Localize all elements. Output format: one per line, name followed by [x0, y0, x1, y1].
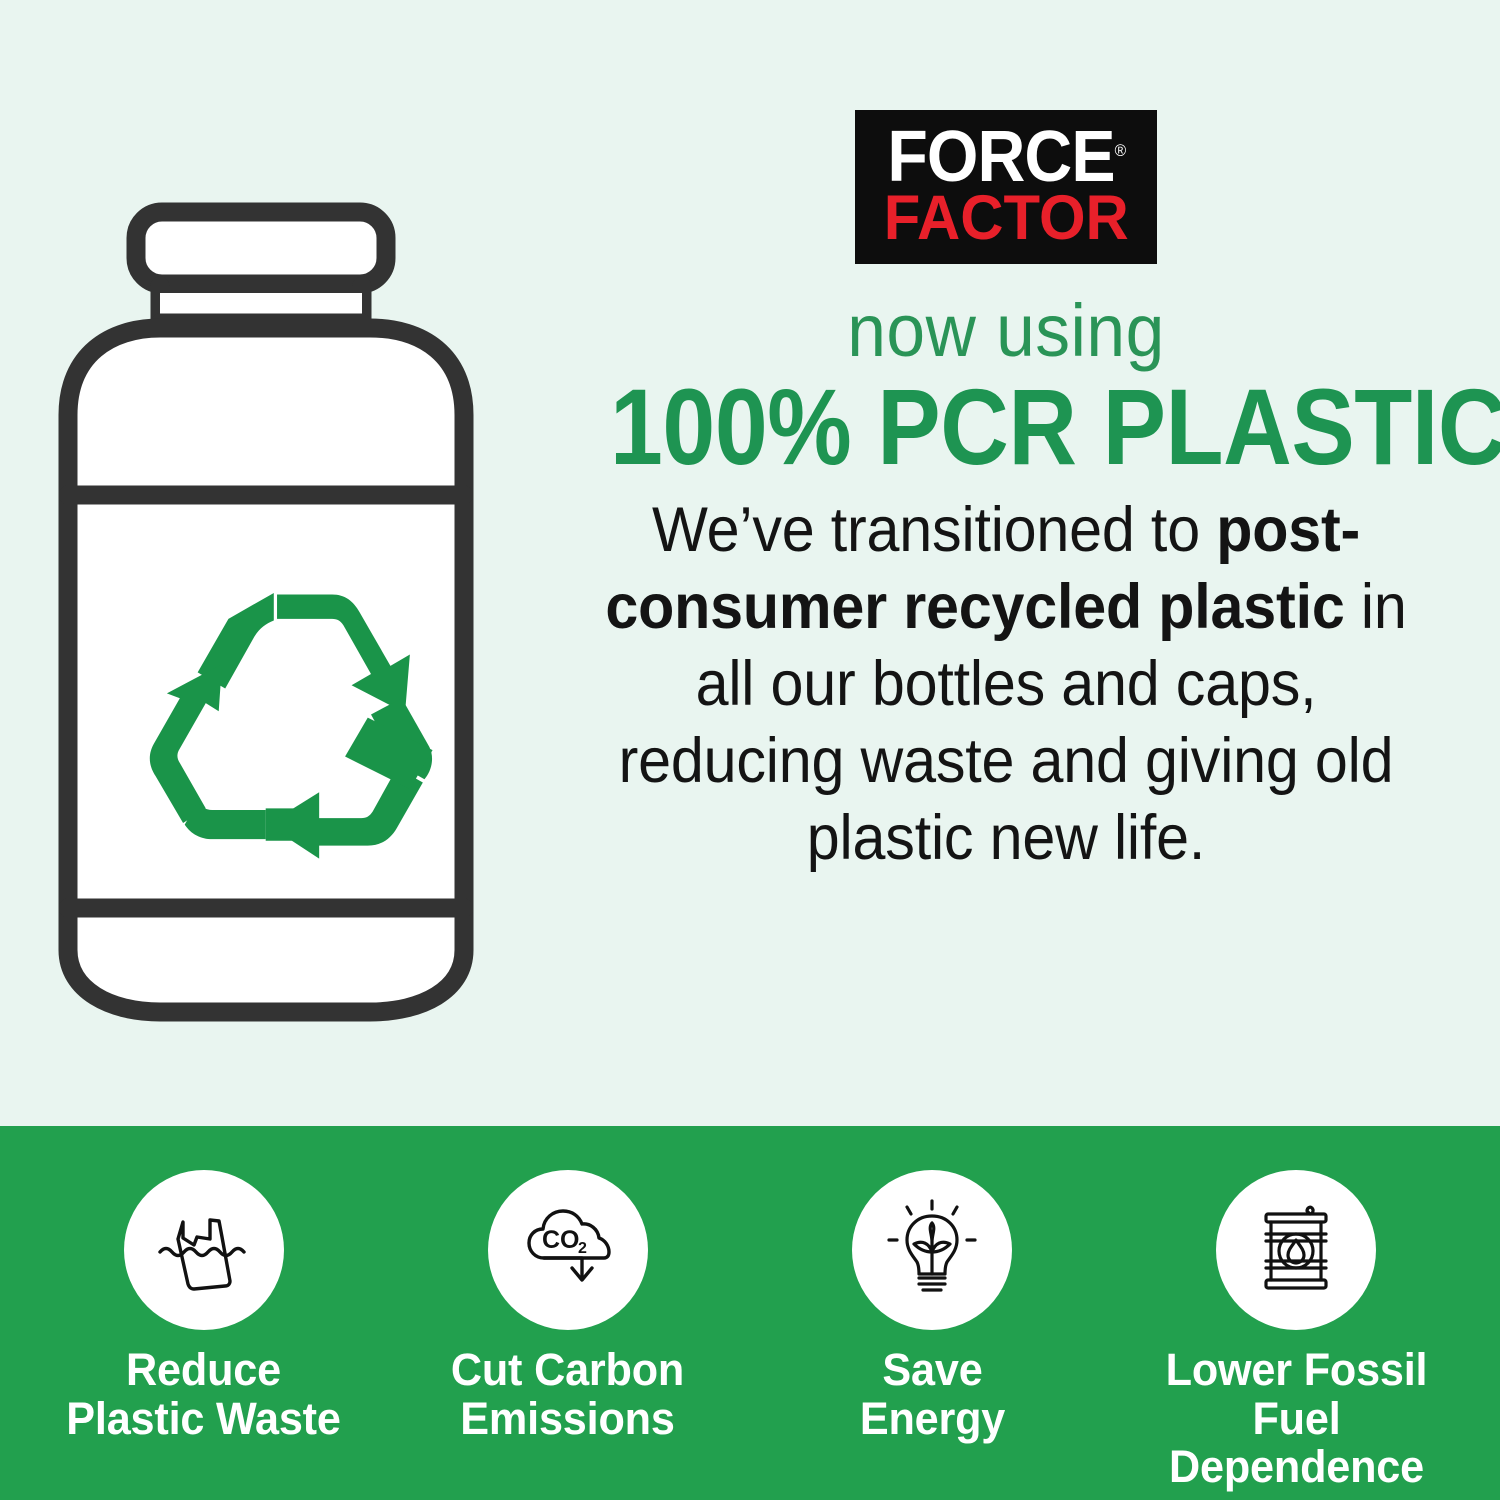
co2-cloud-down-arrow-icon: CO 2 [488, 1170, 648, 1330]
headline-text: 100% PCR PLASTIC [610, 372, 1402, 482]
benefit-item: Save Energy [755, 1126, 1110, 1443]
plastic-bag-in-water-icon [124, 1170, 284, 1330]
registered-mark-icon: ® [1114, 141, 1125, 160]
lightbulb-plant-icon [852, 1170, 1012, 1330]
body-copy: We’ve transitioned to post-consumer recy… [583, 492, 1429, 876]
force-factor-logo: FORCE® FACTOR [855, 110, 1158, 264]
benefit-item: Reduce Plastic Waste [26, 1126, 381, 1443]
hero-section: FORCE® FACTOR now using 100% PCR PLASTIC… [0, 0, 1500, 1126]
benefit-label: Save Energy [762, 1346, 1103, 1443]
pcr-plastic-infographic: FORCE® FACTOR now using 100% PCR PLASTIC… [0, 0, 1500, 1500]
benefit-label: Reduce Plastic Waste [33, 1346, 374, 1443]
benefits-panel: Reduce Plastic Waste CO 2 Cut Carbon Emi… [0, 1126, 1500, 1500]
benefit-label: Cut Carbon Emissions [397, 1346, 738, 1443]
benefit-label: Lower Fossil Fuel Dependence [1126, 1346, 1467, 1492]
hero-text-column: FORCE® FACTOR now using 100% PCR PLASTIC… [556, 110, 1456, 1010]
logo-factor-text: FACTOR [883, 190, 1129, 248]
body-copy-part1: We’ve transitioned to [652, 495, 1216, 565]
supplement-tub-illustration [40, 190, 540, 1040]
svg-text:2: 2 [578, 1240, 587, 1257]
benefit-item: Lower Fossil Fuel Dependence [1119, 1126, 1474, 1492]
svg-text:CO: CO [542, 1226, 580, 1254]
eyebrow-text: now using [583, 294, 1429, 368]
benefit-item: CO 2 Cut Carbon Emissions [390, 1126, 745, 1443]
oil-barrel-droplet-icon [1216, 1170, 1376, 1330]
logo-force-text: FORCE® [887, 124, 1125, 190]
